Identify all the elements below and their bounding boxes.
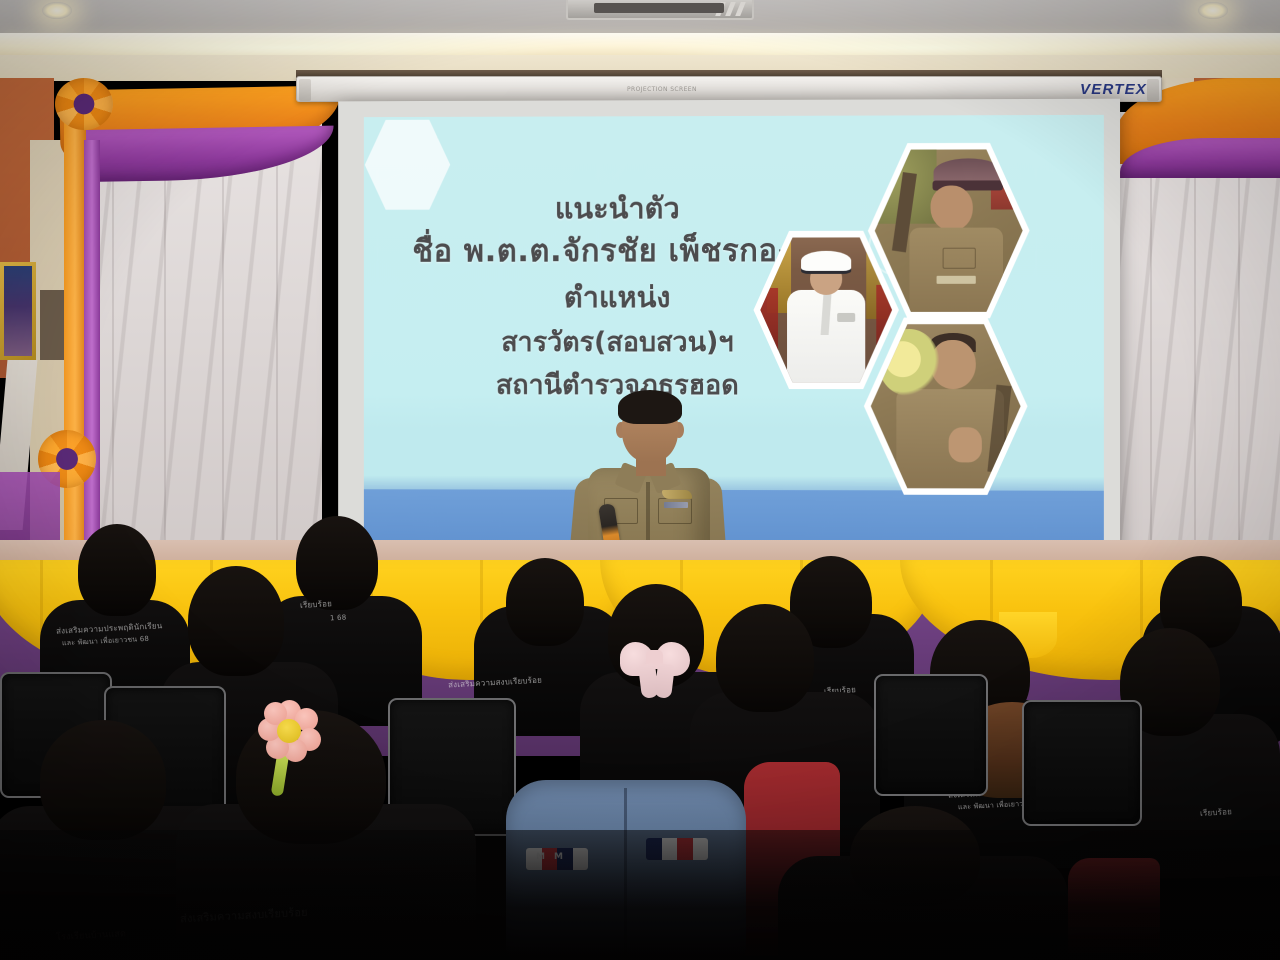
slide-line-2: ชื่อ พ.ต.ต.จักรชัย เพ็ชรกอง xyxy=(374,229,832,273)
cove-lighting xyxy=(0,33,1280,57)
pink-hair-bow xyxy=(620,638,690,694)
orange-purple-rosette-icon xyxy=(55,78,113,130)
shirt-print-line: เรียบร้อย xyxy=(1200,805,1233,820)
presentation-slide: แนะนำตัว ชื่อ พ.ต.ต.จักรชัย เพ็ชรกอง ตำแ… xyxy=(364,115,1104,565)
pink-flower-hair-clip xyxy=(258,700,320,762)
shirt-print-line: 1 68 xyxy=(330,614,347,623)
presentation-hall-photo: PROJECTION SCREEN VERTEX แนะนำตัว ชื่อ พ… xyxy=(0,0,1280,960)
vertex-brand-logo: VERTEX xyxy=(1080,81,1147,98)
purple-drape-column xyxy=(84,140,100,570)
shirt-print-line: เรียบร้อย xyxy=(300,597,333,612)
orange-drape-column xyxy=(64,112,86,582)
uniform-wings-insignia-icon xyxy=(662,490,692,499)
ceiling-downlight-icon xyxy=(42,2,72,19)
backdrop-curtain-right xyxy=(1120,112,1280,602)
framed-portrait xyxy=(0,262,36,360)
uniform-ribbon-bar-icon xyxy=(664,502,688,508)
foreground-shadow xyxy=(0,830,1280,960)
backdrop-curtain-left xyxy=(72,110,322,588)
slide-line-1: แนะนำตัว xyxy=(404,188,833,230)
hex-photo-khaki-with-flowers xyxy=(862,312,1029,501)
housing-micro-text: PROJECTION SCREEN xyxy=(627,86,697,93)
ceiling-downlight-icon xyxy=(1198,2,1228,19)
air-conditioning-vent-icon xyxy=(566,0,754,20)
presenter-hair xyxy=(618,390,682,424)
